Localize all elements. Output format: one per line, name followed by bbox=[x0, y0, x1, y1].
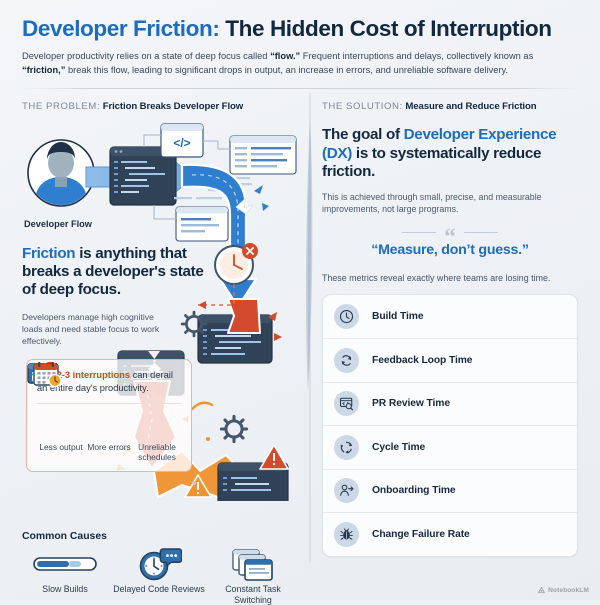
common-causes-list: Slow Builds Delayed Code Reviews bbox=[18, 548, 300, 605]
doc-window-icon-2 bbox=[176, 207, 228, 241]
watermark-label: NotebookLM bbox=[548, 587, 589, 594]
solution-eyebrow-heading: Measure and Reduce Friction bbox=[405, 101, 536, 112]
quote-ornament: “ bbox=[322, 232, 578, 233]
metric-label: PR Review Time bbox=[372, 398, 450, 409]
developer-flow-label: Developer Flow bbox=[24, 219, 92, 229]
cause-label: Delayed Code Reviews bbox=[112, 584, 206, 595]
metric-row-cycle-time[interactable]: Cycle Time bbox=[323, 425, 577, 469]
interruptions-callout: Just 2-3 interruptions can derail an ent… bbox=[26, 359, 192, 472]
metric-label: Feedback Loop Time bbox=[372, 355, 472, 366]
impact-item-more-errors: More errors bbox=[85, 411, 133, 463]
cause-item-slow-builds: Slow Builds bbox=[18, 548, 112, 605]
more-errors-icon bbox=[85, 411, 133, 439]
metric-label: Cycle Time bbox=[372, 442, 425, 453]
stacked-windows-icon bbox=[206, 548, 300, 580]
person-arrow-icon bbox=[334, 478, 359, 503]
refresh-loop-icon bbox=[334, 348, 359, 373]
friction-flow-illustration: </> bbox=[22, 119, 304, 501]
cause-label: Slow Builds bbox=[18, 584, 112, 595]
watermark: NotebookLM bbox=[538, 587, 589, 594]
solution-eyebrow: THE SOLUTION: Measure and Reduce Frictio… bbox=[322, 102, 578, 113]
bug-icon bbox=[334, 522, 359, 547]
callout-emphasis: 2-3 interruptions bbox=[57, 370, 130, 380]
gear-icon-2 bbox=[221, 416, 246, 441]
clock-icon bbox=[334, 304, 359, 329]
infographic-poster: Developer Friction: The Hidden Cost of I… bbox=[0, 0, 600, 600]
page-subtitle: Developer productivity relies on a state… bbox=[22, 49, 578, 77]
problem-eyebrow-label: THE PROBLEM: bbox=[22, 101, 100, 112]
impact-label-unreliable-schedules: Unreliable schedules bbox=[133, 442, 181, 463]
metric-row-build-time[interactable]: Build Time bbox=[323, 295, 577, 339]
goal-headline: The goal of Developer Experience (DX) is… bbox=[322, 126, 578, 182]
common-causes-title: Common Causes bbox=[22, 531, 107, 542]
svg-text:</>: </> bbox=[173, 136, 190, 150]
impact-item-unreliable-schedules: Unreliable schedules bbox=[133, 411, 181, 463]
metrics-lead-text: These metrics reveal exactly where teams… bbox=[322, 272, 578, 284]
solution-eyebrow-label: THE SOLUTION: bbox=[322, 101, 403, 112]
page-title-accent: Developer Friction: bbox=[22, 16, 219, 41]
subtitle-friction-term: “friction,” bbox=[22, 65, 65, 75]
metric-label: Change Failure Rate bbox=[372, 529, 470, 540]
metric-row-onboarding-time[interactable]: Onboarding Time bbox=[323, 469, 577, 513]
columns: THE PROBLEM: Friction Breaks Developer F… bbox=[0, 89, 600, 574]
gear-icon-1 bbox=[182, 312, 206, 336]
page-title-rest: The Hidden Cost of Interruption bbox=[219, 16, 551, 41]
metric-label: Build Time bbox=[372, 311, 423, 322]
header: Developer Friction: The Hidden Cost of I… bbox=[0, 0, 600, 77]
warning-triangle-icon-1 bbox=[260, 445, 288, 469]
callout-impact-row: Less output bbox=[37, 411, 181, 463]
page-title: Developer Friction: The Hidden Cost of I… bbox=[22, 16, 578, 41]
subtitle-flow-term: “flow.” bbox=[270, 51, 300, 61]
code-tag-window-icon: </> bbox=[161, 124, 203, 157]
clock-comment-icon bbox=[112, 548, 206, 580]
metric-row-change-failure-rate[interactable]: Change Failure Rate bbox=[323, 512, 577, 556]
cause-item-constant-task-switching: Constant Task Switching bbox=[206, 548, 300, 605]
problem-eyebrow-heading: Friction Breaks Developer Flow bbox=[103, 101, 243, 112]
friction-headline-accent: Friction bbox=[22, 245, 75, 262]
cause-item-delayed-code-reviews: Delayed Code Reviews bbox=[112, 548, 206, 605]
impact-item-less-output: Less output bbox=[37, 411, 85, 463]
unreliable-schedules-icon bbox=[133, 411, 181, 439]
metric-row-feedback-loop-time[interactable]: Feedback Loop Time bbox=[323, 338, 577, 382]
goal-subtext: This is achieved through small, precise,… bbox=[322, 191, 578, 217]
impact-label-less-output: Less output bbox=[37, 442, 85, 452]
friction-subtext: Developers manage high cognitive loads a… bbox=[22, 311, 172, 348]
notebooklm-logo-icon bbox=[538, 587, 545, 594]
problem-column: THE PROBLEM: Friction Breaks Developer F… bbox=[0, 89, 302, 574]
impact-label-more-errors: More errors bbox=[85, 442, 133, 452]
less-output-icon bbox=[37, 411, 85, 439]
cycle-arrows-icon bbox=[334, 435, 359, 460]
goal-lead: The goal of bbox=[322, 126, 404, 143]
metric-label: Onboarding Time bbox=[372, 485, 456, 496]
stopped-clock-icon bbox=[215, 243, 258, 284]
solution-column: THE SOLUTION: Measure and Reduce Frictio… bbox=[302, 89, 600, 574]
metric-row-pr-review-time[interactable]: PR Review Time bbox=[323, 382, 577, 426]
callout-separator bbox=[37, 403, 181, 404]
developer-avatar-icon bbox=[28, 140, 94, 215]
problem-eyebrow: THE PROBLEM: Friction Breaks Developer F… bbox=[22, 102, 288, 113]
subtitle-part3: break this flow, leading to significant … bbox=[65, 65, 508, 75]
code-review-search-icon bbox=[334, 391, 359, 416]
progress-bar-icon bbox=[18, 548, 112, 580]
subtitle-part2: Frequent interruptions and delays, colle… bbox=[300, 51, 533, 61]
metrics-list: Build Time Feedback Loop Time bbox=[322, 294, 578, 557]
quote-rule-right bbox=[464, 232, 498, 233]
subtitle-part1: Developer productivity relies on a state… bbox=[22, 51, 270, 61]
cause-label: Constant Task Switching bbox=[206, 584, 300, 605]
friction-headline: Friction is anything that breaks a devel… bbox=[22, 245, 218, 300]
goal-tail: is to systematically reduce friction. bbox=[322, 145, 541, 181]
doc-window-icon-1 bbox=[230, 136, 296, 174]
quote-rule-left bbox=[402, 232, 436, 233]
